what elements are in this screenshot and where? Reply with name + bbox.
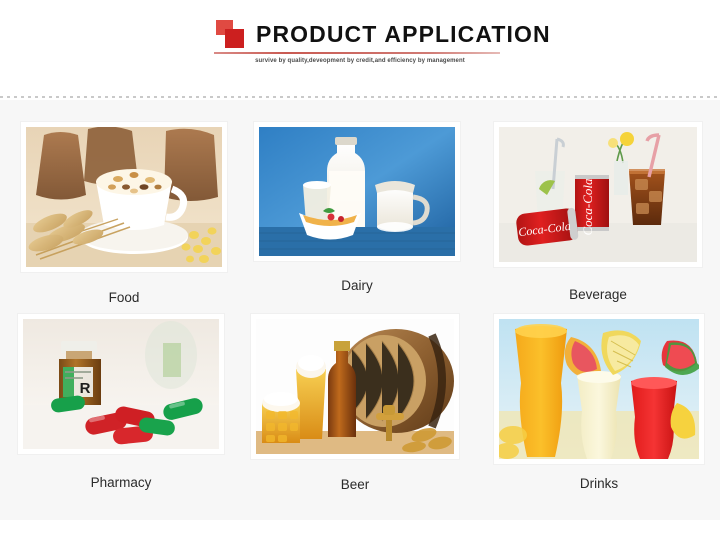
photo-beer	[256, 319, 454, 454]
title-underline	[214, 52, 500, 54]
thumbnail-beer[interactable]	[256, 319, 454, 454]
thumbnail-pharmacy[interactable]: R	[23, 319, 219, 449]
page-subtitle: survive by quality,deveopment by credit,…	[210, 58, 510, 64]
gallery-label-food: Food	[109, 291, 140, 305]
logo-block: PRODUCTAPPLICATION survive by quality,de…	[210, 18, 510, 64]
two-red-squares-logo-icon	[214, 19, 250, 49]
thumbnail-dairy[interactable]	[259, 127, 455, 256]
product-application-gallery: Food	[0, 100, 720, 504]
photo-dairy	[259, 127, 455, 256]
photo-food	[26, 127, 222, 267]
gallery-item-food[interactable]: Food	[0, 122, 244, 314]
thumbnail-frame	[494, 314, 704, 464]
content-panel: Food	[0, 100, 720, 520]
thumbnail-drinks[interactable]	[499, 319, 699, 459]
gallery-item-drinks[interactable]: Drinks	[466, 314, 720, 504]
gallery-label-beer: Beer	[341, 478, 370, 492]
page-title-word-product: PRODUCT	[256, 21, 377, 47]
page-title-word-application: APPLICATION	[384, 21, 550, 47]
logo-square-dark-icon	[225, 29, 244, 48]
logo-row: PRODUCTAPPLICATION	[210, 18, 510, 50]
thumbnail-frame	[254, 122, 460, 261]
gallery-label-dairy: Dairy	[341, 279, 373, 293]
gallery-item-dairy[interactable]: Dairy	[238, 122, 472, 314]
thumbnail-beverage[interactable]: Coca-Cola Coca-Cola	[499, 127, 697, 262]
svg-text:Coca-Cola: Coca-Cola	[580, 178, 595, 236]
gallery-label-drinks: Drinks	[580, 477, 618, 491]
page-title: PRODUCTAPPLICATION	[256, 23, 551, 46]
gallery-label-pharmacy: Pharmacy	[91, 476, 152, 490]
thumbnail-frame: Coca-Cola Coca-Cola	[494, 122, 702, 267]
header-dashed-divider	[0, 96, 720, 98]
gallery-item-beverage[interactable]: Coca-Cola Coca-Cola Beverage	[467, 122, 720, 314]
gallery-label-beverage: Beverage	[569, 288, 627, 302]
gallery-item-pharmacy[interactable]: R	[0, 314, 241, 504]
photo-pharmacy: R	[23, 319, 219, 449]
thumbnail-frame	[21, 122, 227, 272]
thumbnail-frame: R	[18, 314, 224, 454]
photo-beverage: Coca-Cola Coca-Cola	[499, 127, 697, 262]
page-header: PRODUCTAPPLICATION survive by quality,de…	[0, 0, 720, 95]
thumbnail-food[interactable]	[26, 127, 222, 267]
thumbnail-frame	[251, 314, 459, 459]
gallery-item-beer[interactable]: Beer	[240, 314, 470, 504]
photo-drinks	[499, 319, 699, 459]
svg-text:R: R	[80, 380, 91, 397]
